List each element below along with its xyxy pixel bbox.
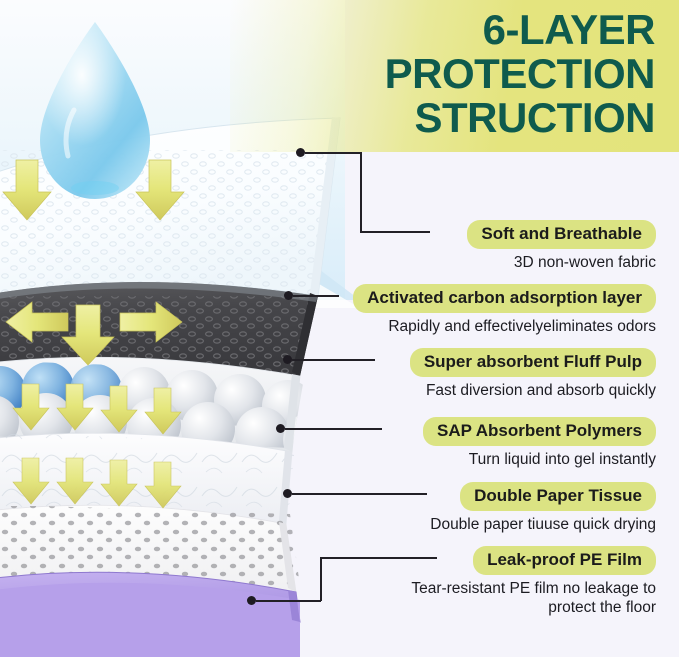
callout-description-soft-and-breathable: 3D non-woven fabric (380, 253, 656, 272)
callout-label-soft-and-breathable: Soft and Breathable (467, 220, 656, 249)
title-line-1: 6-LAYER (235, 8, 655, 52)
layer-leak-proof-pe-film (0, 572, 300, 657)
callout-description-leak-proof-pe-film: Tear-resistant PE film no leakage to pro… (380, 579, 656, 617)
callout-label-sap-polymers: SAP Absorbent Polymers (423, 417, 656, 446)
callout-leak-proof-pe-film[interactable]: Leak-proof PE Film Tear-resistant PE fil… (380, 546, 656, 617)
callout-description-sap-polymers: Turn liquid into gel instantly (370, 450, 656, 469)
leader-h-pe-1 (256, 600, 321, 602)
callout-soft-and-breathable[interactable]: Soft and Breathable 3D non-woven fabric (380, 220, 656, 272)
leader-h-sap (285, 428, 382, 430)
page-title: 6-LAYER PROTECTION STRUCTION (235, 8, 655, 140)
leader-h-soft-1 (305, 152, 361, 154)
callout-dot-soft-and-breathable (296, 148, 305, 157)
leader-v-pe (320, 557, 322, 601)
title-line-3: STRUCTION (235, 96, 655, 140)
callout-double-paper-tissue[interactable]: Double Paper Tissue Double paper tiuuse … (380, 482, 656, 534)
callout-label-leak-proof-pe-film: Leak-proof PE Film (473, 546, 656, 575)
callout-label-fluff-pulp: Super absorbent Fluff Pulp (410, 348, 656, 377)
infographic-canvas: 6-LAYER PROTECTION STRUCTION Soft and Br… (0, 0, 679, 657)
leader-v-soft (360, 152, 362, 232)
callout-dot-double-paper-tissue (283, 489, 292, 498)
callout-dot-sap-polymers (276, 424, 285, 433)
callout-description-double-paper-tissue: Double paper tiuuse quick drying (380, 515, 656, 534)
callout-dot-activated-carbon (284, 291, 293, 300)
callout-fluff-pulp[interactable]: Super absorbent Fluff Pulp Fast diversio… (360, 348, 656, 400)
callout-sap-polymers[interactable]: SAP Absorbent Polymers Turn liquid into … (370, 417, 656, 469)
callout-label-activated-carbon: Activated carbon adsorption layer (353, 284, 656, 313)
callout-label-double-paper-tissue: Double Paper Tissue (460, 482, 656, 511)
callout-description-fluff-pulp: Fast diversion and absorb quickly (360, 381, 656, 400)
callout-dot-fluff-pulp (283, 355, 292, 364)
callout-activated-carbon[interactable]: Activated carbon adsorption layer Rapidl… (330, 284, 656, 336)
callout-dot-leak-proof-pe-film (247, 596, 256, 605)
callout-description-activated-carbon: Rapidly and effectivelyeliminates odors (330, 317, 656, 336)
title-line-2: PROTECTION (235, 52, 655, 96)
